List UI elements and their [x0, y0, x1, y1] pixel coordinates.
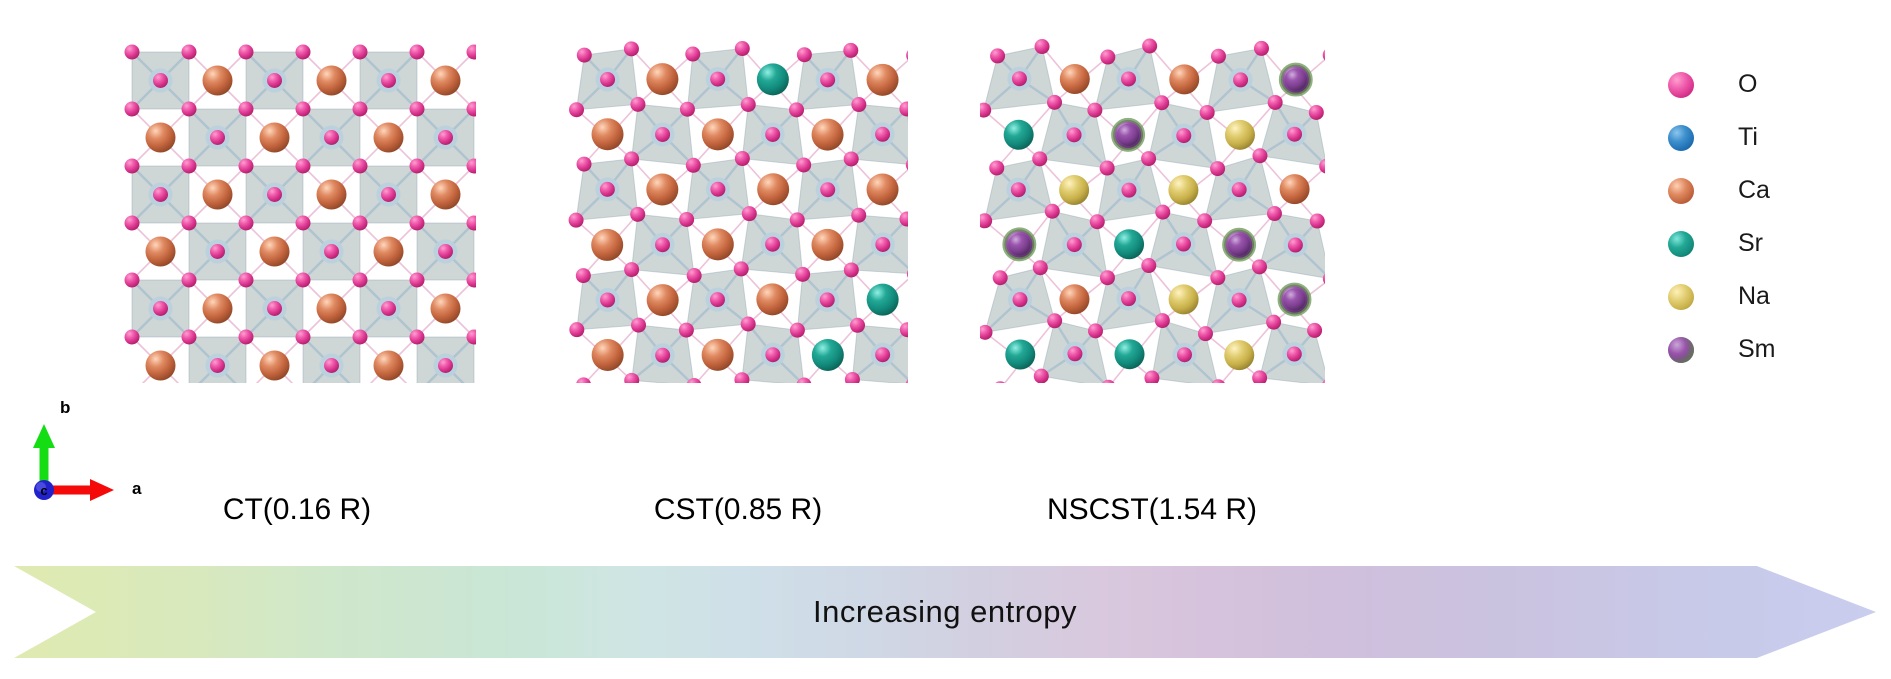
entropy-banner-label: Increasing entropy: [14, 594, 1876, 630]
atom-legend: O Ti Ca Sr Na Sm: [1668, 58, 1868, 376]
structure-canvas-cst: [568, 38, 908, 383]
sr-atom-icon: [1668, 231, 1694, 257]
caption-cst: CST(0.85 R): [558, 493, 918, 527]
figure-root: CT(0.16 R) CST(0.85 R) NSCST(1.54 R) O T…: [0, 0, 1891, 679]
legend-label-ca: Ca: [1738, 178, 1770, 203]
legend-label-sr: Sr: [1738, 231, 1763, 256]
legend-row-sm: Sm: [1668, 323, 1868, 376]
increasing-entropy-banner: Increasing entropy: [14, 566, 1876, 658]
caption-nscst: NSCST(1.54 R): [972, 493, 1332, 527]
legend-label-na: Na: [1738, 284, 1770, 309]
ti-atom-icon: [1668, 125, 1694, 151]
axis-arrows-icon: c: [22, 398, 172, 518]
legend-row-o: O: [1668, 58, 1868, 111]
o-atom-icon: [1668, 72, 1694, 98]
crystal-axis-indicator: c b a: [22, 398, 172, 518]
axis-label-b: b: [60, 398, 70, 418]
structure-panel-ct: [118, 38, 476, 383]
legend-row-ca: Ca: [1668, 164, 1868, 217]
svg-text:c: c: [40, 483, 47, 498]
structure-canvas-nscst: [980, 38, 1325, 383]
structure-panel-nscst: [980, 38, 1325, 383]
na-atom-icon: [1668, 284, 1694, 310]
axis-label-a: a: [132, 479, 141, 499]
legend-row-na: Na: [1668, 270, 1868, 323]
legend-label-ti: Ti: [1738, 125, 1758, 150]
legend-row-ti: Ti: [1668, 111, 1868, 164]
legend-label-o: O: [1738, 72, 1757, 97]
legend-label-sm: Sm: [1738, 337, 1776, 362]
structure-panel-cst: [568, 38, 908, 383]
sm-atom-icon: [1668, 337, 1694, 363]
ca-atom-icon: [1668, 178, 1694, 204]
legend-row-sr: Sr: [1668, 217, 1868, 270]
structure-canvas-ct: [118, 38, 476, 383]
